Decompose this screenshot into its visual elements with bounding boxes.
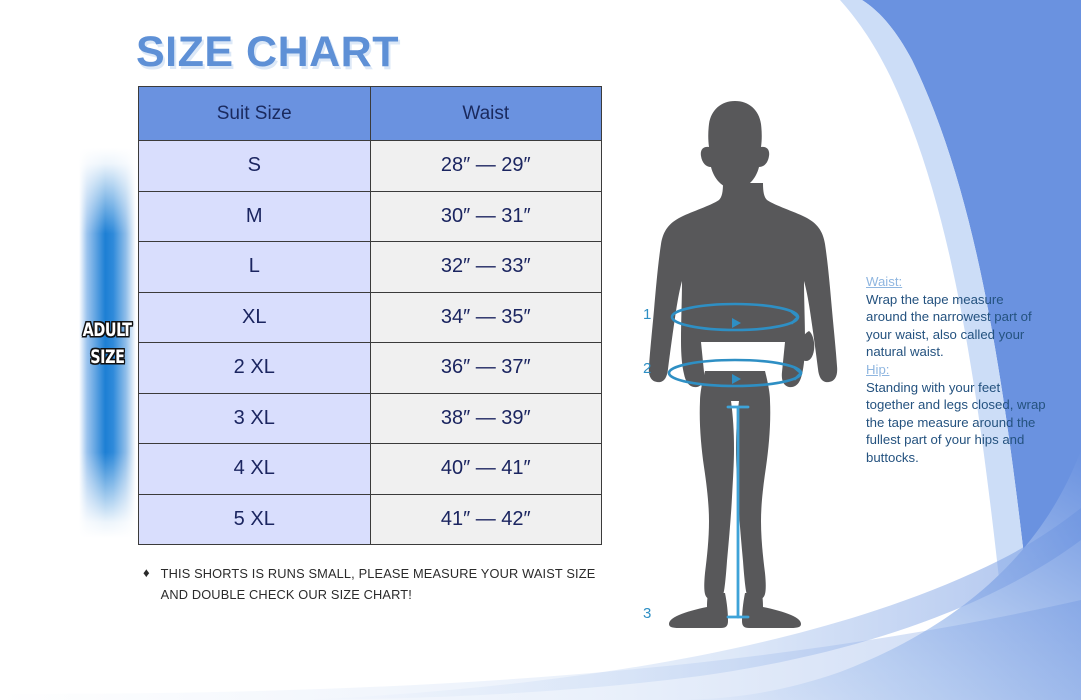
cell-waist: 41″ — 42″ bbox=[370, 494, 602, 545]
cell-waist: 32″ — 33″ bbox=[370, 242, 602, 293]
cell-waist: 36″ — 37″ bbox=[370, 343, 602, 394]
table-row: XL 34″ — 35″ bbox=[139, 292, 602, 343]
deco-bottom-wash bbox=[0, 600, 1081, 700]
instruction-text-hip: Standing with your feet together and leg… bbox=[866, 379, 1046, 467]
cell-suit-size: 2 XL bbox=[139, 343, 371, 394]
adult-size-label: ADULT SIZE bbox=[79, 148, 136, 538]
table-header-row: Suit Size Waist bbox=[139, 87, 602, 141]
table-row: S 28″ — 29″ bbox=[139, 141, 602, 192]
cell-suit-size: 5 XL bbox=[139, 494, 371, 545]
cell-suit-size: L bbox=[139, 242, 371, 293]
marker-inseam-number: 3 bbox=[643, 605, 651, 622]
measurement-instructions: Waist: Wrap the tape measure around the … bbox=[866, 273, 1046, 467]
instruction-text-waist: Wrap the tape measure around the narrowe… bbox=[866, 291, 1046, 361]
cell-suit-size: M bbox=[139, 191, 371, 242]
cell-suit-size: S bbox=[139, 141, 371, 192]
body-figure bbox=[620, 95, 850, 635]
cell-suit-size: 3 XL bbox=[139, 393, 371, 444]
cell-waist: 30″ — 31″ bbox=[370, 191, 602, 242]
instruction-heading-waist: Waist: bbox=[866, 273, 1046, 291]
adult-size-line-2: SIZE bbox=[90, 346, 124, 368]
cell-suit-size: 4 XL bbox=[139, 444, 371, 495]
cell-waist: 38″ — 39″ bbox=[370, 393, 602, 444]
table-row: 3 XL 38″ — 39″ bbox=[139, 393, 602, 444]
adult-size-line-1: ADULT bbox=[83, 319, 132, 341]
marker-hip-number: 2 bbox=[643, 360, 651, 377]
table-row: M 30″ — 31″ bbox=[139, 191, 602, 242]
silhouette-icon bbox=[649, 101, 837, 628]
column-header-waist: Waist bbox=[370, 87, 602, 141]
table-row: 2 XL 36″ — 37″ bbox=[139, 343, 602, 394]
page-title: SIZE CHART bbox=[136, 28, 399, 77]
footnote: ♦ THIS SHORTS IS RUNS SMALL, PLEASE MEAS… bbox=[143, 563, 613, 605]
bullet-icon: ♦ bbox=[143, 563, 150, 583]
footnote-text: THIS SHORTS IS RUNS SMALL, PLEASE MEASUR… bbox=[161, 563, 613, 605]
size-table: Suit Size Waist S 28″ — 29″ M 30″ — 31″ … bbox=[138, 86, 602, 545]
column-header-suit-size: Suit Size bbox=[139, 87, 371, 141]
cell-waist: 40″ — 41″ bbox=[370, 444, 602, 495]
table-row: L 32″ — 33″ bbox=[139, 242, 602, 293]
table-row: 5 XL 41″ — 42″ bbox=[139, 494, 602, 545]
marker-waist-number: 1 bbox=[643, 306, 651, 323]
cell-suit-size: XL bbox=[139, 292, 371, 343]
instruction-heading-hip: Hip: bbox=[866, 361, 1046, 379]
cell-waist: 28″ — 29″ bbox=[370, 141, 602, 192]
cell-waist: 34″ — 35″ bbox=[370, 292, 602, 343]
size-chart-page: SIZE CHART ADULT SIZE Suit Size Waist S … bbox=[0, 0, 1081, 700]
table-row: 4 XL 40″ — 41″ bbox=[139, 444, 602, 495]
